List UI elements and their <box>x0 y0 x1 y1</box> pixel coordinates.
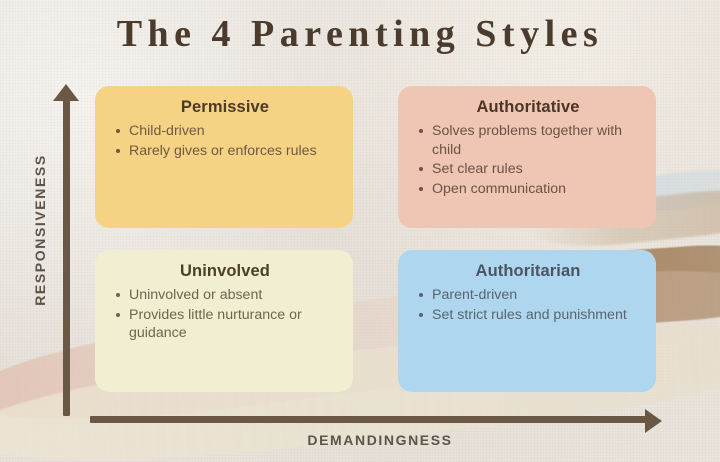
bullet-text: Parent-driven <box>432 287 517 303</box>
x-axis-line <box>90 416 650 423</box>
bullet-text: Solves problems together with child <box>432 123 622 158</box>
list-item: Rarely gives or enforces rules <box>129 142 339 161</box>
parenting-styles-infographic: The 4 Parenting Styles RESPONSIVENESS DE… <box>0 0 720 462</box>
y-axis-line <box>63 96 70 416</box>
list-item: Set strict rules and punishment <box>432 306 642 325</box>
list-item: Provides little nurturance or guidance <box>129 306 339 343</box>
quadrant-bullets-uninvolved: Uninvolved or absent Provides little nur… <box>111 286 339 343</box>
bullet-icon <box>116 149 120 153</box>
bullet-icon <box>419 187 423 191</box>
quadrant-card-authoritarian: Authoritarian Parent-driven Set strict r… <box>398 250 656 392</box>
quadrant-bullets-authoritative: Solves problems together with child Set … <box>414 122 642 199</box>
list-item: Child-driven <box>129 122 339 141</box>
list-item: Uninvolved or absent <box>129 286 339 305</box>
quadrant-bullets-permissive: Child-driven Rarely gives or enforces ru… <box>111 122 339 160</box>
quadrant-title-authoritarian: Authoritarian <box>414 262 642 281</box>
x-axis-arrow-icon <box>645 409 662 433</box>
bullet-icon <box>419 129 423 133</box>
bullet-text: Open communication <box>432 181 566 197</box>
quadrant-bullets-authoritarian: Parent-driven Set strict rules and punis… <box>414 286 642 324</box>
bullet-text: Set clear rules <box>432 161 523 177</box>
bullet-icon <box>116 313 120 317</box>
y-axis-label: RESPONSIVENESS <box>32 130 48 330</box>
list-item: Solves problems together with child <box>432 122 642 159</box>
page-title: The 4 Parenting Styles <box>0 12 720 56</box>
quadrant-card-uninvolved: Uninvolved Uninvolved or absent Provides… <box>95 250 353 392</box>
bullet-icon <box>419 313 423 317</box>
bullet-text: Set strict rules and punishment <box>432 307 627 323</box>
bullet-text: Child-driven <box>129 123 205 139</box>
bullet-text: Rarely gives or enforces rules <box>129 143 317 159</box>
list-item: Open communication <box>432 180 642 199</box>
y-axis-arrow-icon <box>53 84 79 101</box>
bullet-icon <box>419 167 423 171</box>
quadrant-title-uninvolved: Uninvolved <box>111 262 339 281</box>
list-item: Set clear rules <box>432 160 642 179</box>
list-item: Parent-driven <box>432 286 642 305</box>
quadrant-card-permissive: Permissive Child-driven Rarely gives or … <box>95 86 353 228</box>
quadrant-card-authoritative: Authoritative Solves problems together w… <box>398 86 656 228</box>
quadrant-title-permissive: Permissive <box>111 98 339 117</box>
quadrant-title-authoritative: Authoritative <box>414 98 642 117</box>
background-texture <box>0 0 720 462</box>
bullet-text: Provides little nurturance or guidance <box>129 307 302 342</box>
bullet-icon <box>116 129 120 133</box>
bullet-icon <box>419 293 423 297</box>
bullet-text: Uninvolved or absent <box>129 287 262 303</box>
x-axis-label: DEMANDINGNESS <box>180 432 580 448</box>
bullet-icon <box>116 293 120 297</box>
